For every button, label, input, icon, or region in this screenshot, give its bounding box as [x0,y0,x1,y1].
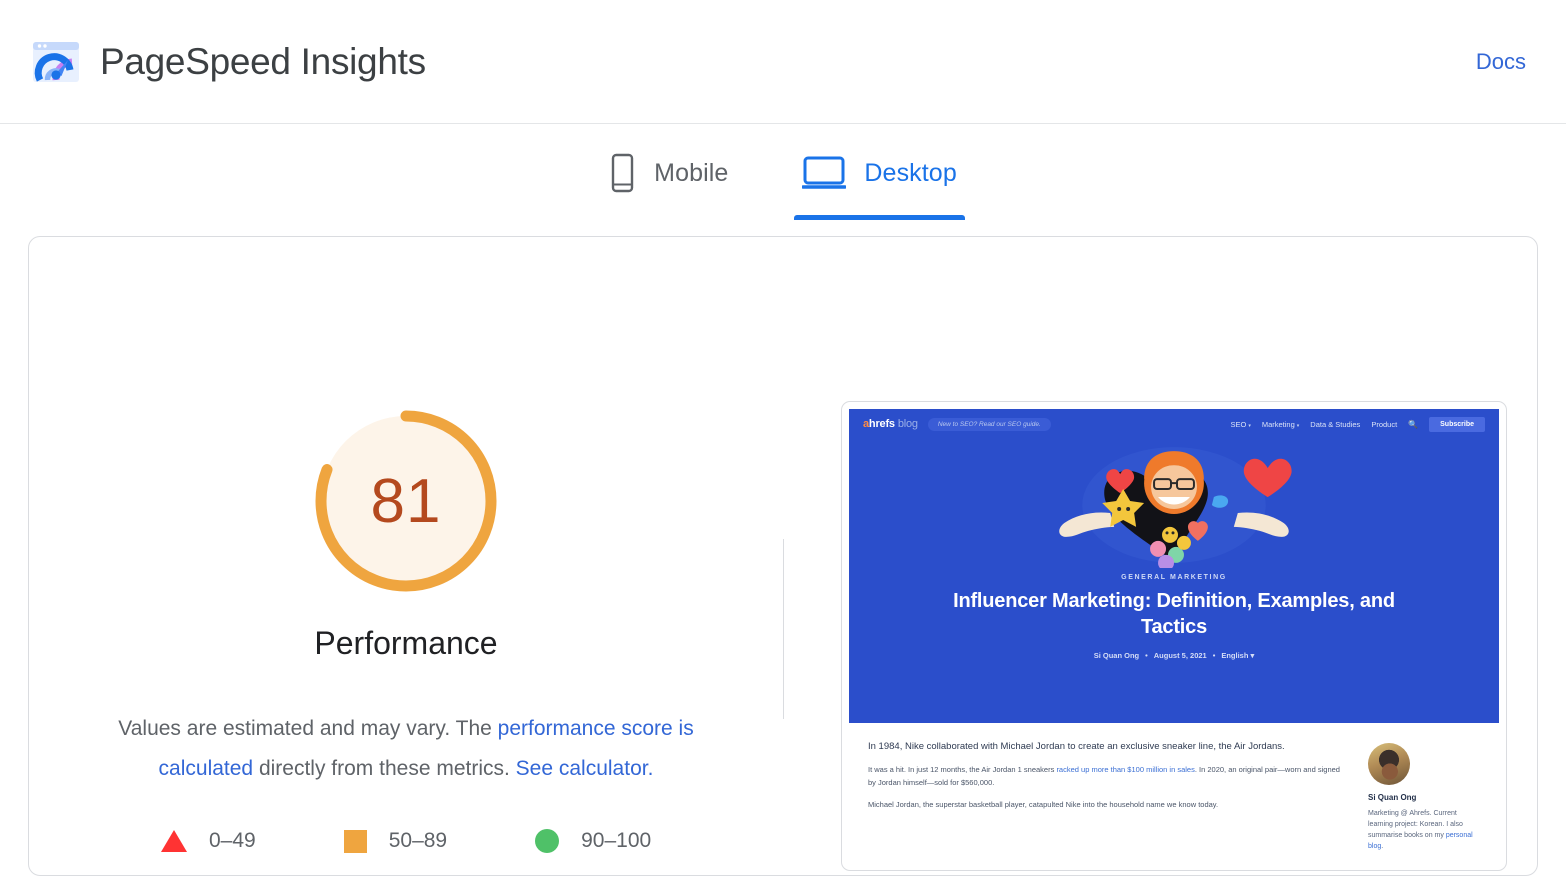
performance-score: 81 [308,403,504,599]
page-screenshot-thumbnail[interactable]: ahrefsblog New to SEO? Read our SEO guid… [841,401,1507,871]
score-legend: 0–49 50–89 90–100 [161,829,651,853]
author-bio: Marketing @ Ahrefs. Current learning pro… [1368,808,1480,852]
character-with-hearts-illustration-icon [849,443,1499,568]
article-main-column: In 1984, Nike collaborated with Michael … [868,739,1348,852]
avatar [1368,743,1410,785]
metric-description-text-1: Values are estimated and may vary. The [118,717,497,740]
logo-text-blog: blog [898,418,918,430]
nav-link-marketing-label: Marketing [1262,420,1295,429]
pagespeed-gauge-logo-icon [30,36,82,88]
square-icon [344,830,367,853]
tab-active-indicator [794,215,964,220]
screenshot-column: ahrefsblog New to SEO? Read our SEO guid… [783,237,1537,875]
logo-text-hrefs: hrefs [869,418,895,430]
screenshot-article-body: In 1984, Nike collaborated with Michael … [842,723,1506,852]
performance-gauge: 81 [308,403,504,599]
app-header: PageSpeed Insights Docs [0,0,1566,124]
article-paragraph-2-text-a: It was a hit. In just 12 months, the Air… [868,765,1056,774]
legend-label-pass: 90–100 [581,829,651,853]
phone-icon [609,153,636,193]
metric-title: Performance [29,625,783,662]
screenshot-nav-links: SEO▾ Marketing▾ Data & Studies Product 🔍… [1230,417,1485,432]
triangle-icon [161,830,187,852]
author-card: Si Quan Ong Marketing @ Ahrefs. Current … [1368,739,1480,852]
legend-item-pass: 90–100 [535,829,651,853]
chevron-down-icon: ▾ [1248,423,1251,429]
monitor-icon [802,156,846,190]
tab-desktop-label: Desktop [864,159,956,188]
legend-item-fail: 0–49 [161,829,256,853]
score-column: 81 Performance Values are estimated and … [29,237,783,875]
tab-mobile[interactable]: Mobile [605,131,732,223]
seo-guide-promo-pill: New to SEO? Read our SEO guide. [928,418,1051,431]
tab-desktop[interactable]: Desktop [798,134,960,220]
circle-icon [535,829,559,853]
metric-description: Values are estimated and may vary. The p… [85,709,727,789]
article-paragraph-3: Michael Jordan, the superstar basketball… [868,799,1348,812]
nav-link-product: Product [1371,420,1397,429]
article-lead-paragraph: In 1984, Nike collaborated with Michael … [868,739,1348,754]
nav-link-seo-label: SEO [1230,420,1246,429]
screenshot-hero: ahrefsblog New to SEO? Read our SEO guid… [849,409,1499,723]
performance-result-card: 81 Performance Values are estimated and … [28,236,1538,876]
subscribe-button: Subscribe [1429,417,1485,432]
tab-mobile-label: Mobile [654,159,728,188]
chevron-down-icon: ▾ [1248,651,1254,660]
device-tabs: Mobile Desktop [0,124,1566,230]
byline-author: Si Quan Ong [1094,651,1139,660]
brand: PageSpeed Insights [30,36,426,88]
legend-label-fail: 0–49 [209,829,256,853]
byline-date: August 5, 2021 [1154,651,1207,660]
article-paragraph-2: It was a hit. In just 12 months, the Air… [868,764,1348,789]
byline-separator: • [1145,651,1148,660]
author-bio-text-b: . [1381,843,1383,850]
author-name: Si Quan Ong [1368,793,1480,802]
article-byline: Si Quan Ong•August 5, 2021•English ▾ [849,651,1499,660]
ahrefs-blog-logo: ahrefsblog [863,418,918,430]
byline-language: English [1221,651,1248,660]
nav-link-data-studies: Data & Studies [1310,420,1360,429]
article-inline-link: racked up more than $100 million in sale… [1056,765,1194,774]
chevron-down-icon: ▾ [1297,423,1300,429]
see-calculator-link[interactable]: See calculator. [516,757,654,780]
byline-separator: • [1213,651,1216,660]
page-title: PageSpeed Insights [100,41,426,83]
screenshot-site-nav: ahrefsblog New to SEO? Read our SEO guid… [849,409,1499,439]
search-icon: 🔍 [1408,420,1418,429]
nav-link-seo: SEO▾ [1230,420,1250,429]
nav-link-marketing: Marketing▾ [1262,420,1299,429]
article-title: Influencer Marketing: Definition, Exampl… [849,588,1499,640]
article-category: GENERAL MARKETING [849,574,1499,581]
docs-link[interactable]: Docs [1476,49,1526,75]
metric-description-text-2: directly from these metrics. [253,757,516,780]
legend-item-average: 50–89 [344,829,447,853]
legend-label-average: 50–89 [389,829,447,853]
